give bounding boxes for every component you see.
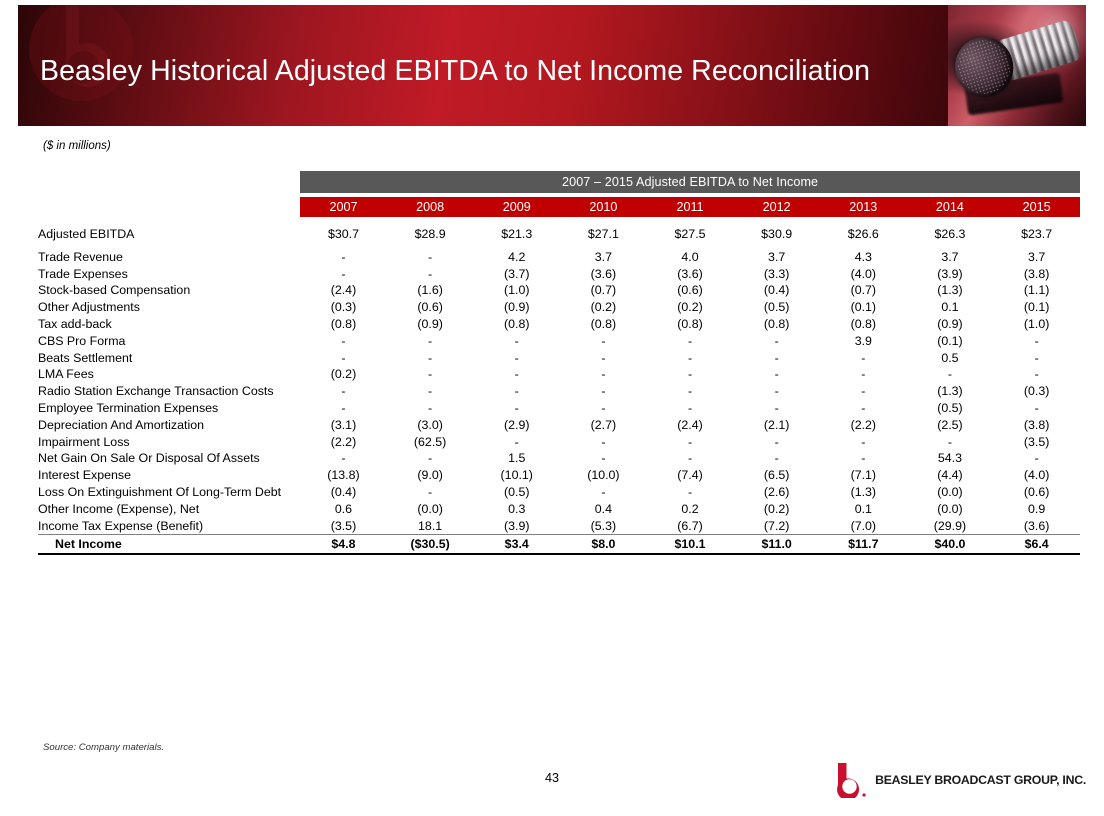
row-label: Impairment Loss bbox=[38, 434, 300, 451]
cell-2015: (3.8) bbox=[993, 417, 1080, 434]
cell-2011: (2.4) bbox=[647, 417, 734, 434]
cell-2014: 0.5 bbox=[907, 350, 994, 367]
table-row: LMA Fees(0.2)-------- bbox=[38, 366, 1080, 383]
cell-2010: - bbox=[560, 383, 647, 400]
cell-2008: (0.0) bbox=[387, 501, 474, 518]
cell-2012: - bbox=[733, 434, 820, 451]
cell-2009: (0.8) bbox=[473, 316, 560, 333]
total-cell-2012: $11.0 bbox=[733, 535, 820, 555]
spacer-cell bbox=[820, 217, 907, 226]
cell-2012: (3.3) bbox=[733, 266, 820, 283]
cell-2013: (2.2) bbox=[820, 417, 907, 434]
spacer-cell bbox=[647, 217, 734, 226]
cell-2013: (0.1) bbox=[820, 299, 907, 316]
cell-2015: (0.6) bbox=[993, 484, 1080, 501]
cell-2010: $27.1 bbox=[560, 226, 647, 243]
column-header-2010: 2010 bbox=[560, 197, 647, 217]
table-banner-row: 2007 – 2015 Adjusted EBITDA to Net Incom… bbox=[38, 171, 1080, 193]
total-cell-2009: $3.4 bbox=[473, 535, 560, 555]
total-cell-2011: $10.1 bbox=[647, 535, 734, 555]
cell-2009: (3.9) bbox=[473, 518, 560, 535]
row-label: Radio Station Exchange Transaction Costs bbox=[38, 383, 300, 400]
page-title: Beasley Historical Adjusted EBITDA to Ne… bbox=[40, 55, 870, 88]
cell-2015: (4.0) bbox=[993, 467, 1080, 484]
cell-2009: $21.3 bbox=[473, 226, 560, 243]
cell-2011: - bbox=[647, 333, 734, 350]
cell-2010: - bbox=[560, 434, 647, 451]
cell-2010: - bbox=[560, 484, 647, 501]
cell-2015: (3.8) bbox=[993, 266, 1080, 283]
cell-2013: $26.6 bbox=[820, 226, 907, 243]
cell-2007: (0.4) bbox=[300, 484, 387, 501]
cell-2014: 3.7 bbox=[907, 249, 994, 266]
row-label: Other Income (Expense), Net bbox=[38, 501, 300, 518]
microphone-photo-background bbox=[948, 5, 1086, 126]
table-spacer-row bbox=[38, 217, 1080, 226]
cell-2007: (0.8) bbox=[300, 316, 387, 333]
microphone-photo bbox=[948, 5, 1086, 126]
table-row: Adjusted EBITDA$30.7$28.9$21.3$27.1$27.5… bbox=[38, 226, 1080, 243]
cell-2011: (6.7) bbox=[647, 518, 734, 535]
cell-2014: (0.0) bbox=[907, 484, 994, 501]
column-header-2012: 2012 bbox=[733, 197, 820, 217]
cell-2007: (3.1) bbox=[300, 417, 387, 434]
row-label: LMA Fees bbox=[38, 366, 300, 383]
cell-2007: - bbox=[300, 383, 387, 400]
row-label: Loss On Extinguishment Of Long-Term Debt bbox=[38, 484, 300, 501]
cell-2007: - bbox=[300, 350, 387, 367]
cell-2012: (0.2) bbox=[733, 501, 820, 518]
cell-2015: 3.7 bbox=[993, 249, 1080, 266]
cell-2012: $30.9 bbox=[733, 226, 820, 243]
cell-2009: (10.1) bbox=[473, 467, 560, 484]
table-row: Radio Station Exchange Transaction Costs… bbox=[38, 383, 1080, 400]
cell-2013: - bbox=[820, 400, 907, 417]
cell-2015: (3.5) bbox=[993, 434, 1080, 451]
table-row: Beats Settlement-------0.5- bbox=[38, 350, 1080, 367]
cell-2015: (1.1) bbox=[993, 282, 1080, 299]
footer-logo-text: BEASLEY BROADCAST GROUP, INC. bbox=[875, 773, 1086, 787]
cell-2010: - bbox=[560, 350, 647, 367]
cell-2007: - bbox=[300, 450, 387, 467]
table-row: Interest Expense(13.8)(9.0)(10.1)(10.0)(… bbox=[38, 467, 1080, 484]
cell-2015: - bbox=[993, 400, 1080, 417]
cell-2013: (0.7) bbox=[820, 282, 907, 299]
column-header-2007: 2007 bbox=[300, 197, 387, 217]
cell-2007: 0.6 bbox=[300, 501, 387, 518]
cell-2008: - bbox=[387, 484, 474, 501]
cell-2010: 0.4 bbox=[560, 501, 647, 518]
table-banner-title: 2007 – 2015 Adjusted EBITDA to Net Incom… bbox=[300, 171, 1080, 193]
cell-2010: (5.3) bbox=[560, 518, 647, 535]
cell-2008: (3.0) bbox=[387, 417, 474, 434]
cell-2011: - bbox=[647, 484, 734, 501]
row-label: Other Adjustments bbox=[38, 299, 300, 316]
cell-2009: (0.5) bbox=[473, 484, 560, 501]
cell-2013: (4.0) bbox=[820, 266, 907, 283]
cell-2014: (4.4) bbox=[907, 467, 994, 484]
row-label: Tax add-back bbox=[38, 316, 300, 333]
cell-2014: 54.3 bbox=[907, 450, 994, 467]
cell-2013: 4.3 bbox=[820, 249, 907, 266]
cell-2012: (6.5) bbox=[733, 467, 820, 484]
spacer-cell bbox=[733, 217, 820, 226]
table-row: Trade Revenue--4.23.74.03.74.33.73.7 bbox=[38, 249, 1080, 266]
cell-2012: - bbox=[733, 383, 820, 400]
table-years-header-row: 200720082009201020112012201320142015 bbox=[38, 197, 1080, 217]
cell-2010: (3.6) bbox=[560, 266, 647, 283]
spacer-cell bbox=[300, 217, 387, 226]
cell-2011: - bbox=[647, 366, 734, 383]
cell-2009: (0.9) bbox=[473, 299, 560, 316]
table-total-row: Net Income$4.8($30.5)$3.4$8.0$10.1$11.0$… bbox=[38, 535, 1080, 555]
cell-2015: (0.3) bbox=[993, 383, 1080, 400]
cell-2007: (2.2) bbox=[300, 434, 387, 451]
cell-2010: (0.8) bbox=[560, 316, 647, 333]
total-cell-2008: ($30.5) bbox=[387, 535, 474, 555]
cell-2014: (0.9) bbox=[907, 316, 994, 333]
cell-2013: - bbox=[820, 434, 907, 451]
cell-2013: (7.1) bbox=[820, 467, 907, 484]
total-cell-2010: $8.0 bbox=[560, 535, 647, 555]
table-row: Stock-based Compensation(2.4)(1.6)(1.0)(… bbox=[38, 282, 1080, 299]
cell-2012: - bbox=[733, 450, 820, 467]
cell-2012: (2.6) bbox=[733, 484, 820, 501]
cell-2008: (62.5) bbox=[387, 434, 474, 451]
cell-2014: (1.3) bbox=[907, 383, 994, 400]
cell-2011: - bbox=[647, 350, 734, 367]
cell-2011: (0.8) bbox=[647, 316, 734, 333]
cell-2014: $26.3 bbox=[907, 226, 994, 243]
cell-2008: - bbox=[387, 450, 474, 467]
cell-2008: $28.9 bbox=[387, 226, 474, 243]
cell-2007: $30.7 bbox=[300, 226, 387, 243]
source-note: Source: Company materials. bbox=[43, 742, 164, 753]
row-label: Trade Expenses bbox=[38, 266, 300, 283]
cell-2007: - bbox=[300, 249, 387, 266]
cell-2011: (0.2) bbox=[647, 299, 734, 316]
cell-2014: - bbox=[907, 366, 994, 383]
cell-2008: - bbox=[387, 366, 474, 383]
cell-2008: - bbox=[387, 400, 474, 417]
column-header-2015: 2015 bbox=[993, 197, 1080, 217]
cell-2014: (3.9) bbox=[907, 266, 994, 283]
cell-2013: 3.9 bbox=[820, 333, 907, 350]
row-label: Employee Termination Expenses bbox=[38, 400, 300, 417]
spacer-cell bbox=[387, 217, 474, 226]
cell-2009: - bbox=[473, 366, 560, 383]
cell-2012: (0.4) bbox=[733, 282, 820, 299]
cell-2007: - bbox=[300, 400, 387, 417]
reconciliation-table: 2007 – 2015 Adjusted EBITDA to Net Incom… bbox=[38, 171, 1080, 555]
cell-2009: (2.9) bbox=[473, 417, 560, 434]
cell-2012: - bbox=[733, 366, 820, 383]
total-cell-2013: $11.7 bbox=[820, 535, 907, 555]
cell-2011: - bbox=[647, 400, 734, 417]
cell-2009: - bbox=[473, 400, 560, 417]
cell-2011: $27.5 bbox=[647, 226, 734, 243]
cell-2007: (2.4) bbox=[300, 282, 387, 299]
footer-logo: BEASLEY BROADCAST GROUP, INC. bbox=[834, 761, 1086, 799]
table-row: Net Gain On Sale Or Disposal Of Assets--… bbox=[38, 450, 1080, 467]
cell-2013: - bbox=[820, 450, 907, 467]
row-label: Adjusted EBITDA bbox=[38, 226, 300, 243]
cell-2007: (0.3) bbox=[300, 299, 387, 316]
total-cell-2014: $40.0 bbox=[907, 535, 994, 555]
cell-2009: - bbox=[473, 383, 560, 400]
cell-2008: 18.1 bbox=[387, 518, 474, 535]
table-row: Loss On Extinguishment Of Long-Term Debt… bbox=[38, 484, 1080, 501]
cell-2010: (0.7) bbox=[560, 282, 647, 299]
table-row: Other Income (Expense), Net0.6(0.0)0.30.… bbox=[38, 501, 1080, 518]
cell-2011: (0.6) bbox=[647, 282, 734, 299]
column-header-2009: 2009 bbox=[473, 197, 560, 217]
cell-2010: - bbox=[560, 333, 647, 350]
cell-2014: (29.9) bbox=[907, 518, 994, 535]
cell-2010: - bbox=[560, 400, 647, 417]
cell-2010: (0.2) bbox=[560, 299, 647, 316]
cell-2014: (2.5) bbox=[907, 417, 994, 434]
cell-2011: - bbox=[647, 383, 734, 400]
cell-2009: 0.3 bbox=[473, 501, 560, 518]
column-header-2008: 2008 bbox=[387, 197, 474, 217]
cell-2010: - bbox=[560, 450, 647, 467]
table-row: Income Tax Expense (Benefit)(3.5)18.1(3.… bbox=[38, 518, 1080, 535]
cell-2013: - bbox=[820, 366, 907, 383]
cell-2010: (10.0) bbox=[560, 467, 647, 484]
cell-2011: (3.6) bbox=[647, 266, 734, 283]
cell-2011: - bbox=[647, 434, 734, 451]
row-label: Income Tax Expense (Benefit) bbox=[38, 518, 300, 535]
header-banner: Beasley Historical Adjusted EBITDA to Ne… bbox=[18, 5, 1086, 126]
cell-2012: (7.2) bbox=[733, 518, 820, 535]
table-row: Trade Expenses--(3.7)(3.6)(3.6)(3.3)(4.0… bbox=[38, 266, 1080, 283]
cell-2015: $23.7 bbox=[993, 226, 1080, 243]
cell-2015: - bbox=[993, 350, 1080, 367]
spacer-cell bbox=[560, 217, 647, 226]
cell-2013: (1.3) bbox=[820, 484, 907, 501]
cell-2009: - bbox=[473, 434, 560, 451]
table-row: Other Adjustments(0.3)(0.6)(0.9)(0.2)(0.… bbox=[38, 299, 1080, 316]
cell-2014: 0.1 bbox=[907, 299, 994, 316]
cell-2013: 0.1 bbox=[820, 501, 907, 518]
cell-2014: (0.5) bbox=[907, 400, 994, 417]
cell-2014: - bbox=[907, 434, 994, 451]
table-row: Depreciation And Amortization(3.1)(3.0)(… bbox=[38, 417, 1080, 434]
cell-2015: - bbox=[993, 333, 1080, 350]
cell-2009: - bbox=[473, 350, 560, 367]
table-row: Tax add-back(0.8)(0.9)(0.8)(0.8)(0.8)(0.… bbox=[38, 316, 1080, 333]
cell-2008: (9.0) bbox=[387, 467, 474, 484]
cell-2014: (1.3) bbox=[907, 282, 994, 299]
cell-2009: - bbox=[473, 333, 560, 350]
row-label: CBS Pro Forma bbox=[38, 333, 300, 350]
cell-2008: (1.6) bbox=[387, 282, 474, 299]
cell-2009: (1.0) bbox=[473, 282, 560, 299]
cell-2008: - bbox=[387, 333, 474, 350]
row-label: Depreciation And Amortization bbox=[38, 417, 300, 434]
cell-2011: 4.0 bbox=[647, 249, 734, 266]
column-header-2014: 2014 bbox=[907, 197, 994, 217]
row-label: Trade Revenue bbox=[38, 249, 300, 266]
cell-2008: - bbox=[387, 350, 474, 367]
cell-2007: (3.5) bbox=[300, 518, 387, 535]
row-label: Beats Settlement bbox=[38, 350, 300, 367]
banner-spacer-cell bbox=[38, 171, 300, 193]
cell-2010: - bbox=[560, 366, 647, 383]
total-cell-2015: $6.4 bbox=[993, 535, 1080, 555]
cell-2009: (3.7) bbox=[473, 266, 560, 283]
total-row-label: Net Income bbox=[38, 535, 300, 555]
cell-2010: 3.7 bbox=[560, 249, 647, 266]
total-cell-2007: $4.8 bbox=[300, 535, 387, 555]
table-row: Employee Termination Expenses-------(0.5… bbox=[38, 400, 1080, 417]
cell-2015: (3.6) bbox=[993, 518, 1080, 535]
cell-2011: 0.2 bbox=[647, 501, 734, 518]
units-note: ($ in millions) bbox=[43, 140, 111, 152]
beasley-b-logo-icon bbox=[834, 762, 868, 798]
cell-2013: - bbox=[820, 383, 907, 400]
cell-2010: (2.7) bbox=[560, 417, 647, 434]
cell-2015: - bbox=[993, 450, 1080, 467]
reconciliation-table-wrapper: 2007 – 2015 Adjusted EBITDA to Net Incom… bbox=[38, 171, 1080, 555]
cell-2008: (0.6) bbox=[387, 299, 474, 316]
spacer-cell bbox=[907, 217, 994, 226]
cell-2007: - bbox=[300, 266, 387, 283]
cell-2013: - bbox=[820, 350, 907, 367]
cell-2009: 4.2 bbox=[473, 249, 560, 266]
cell-2015: - bbox=[993, 366, 1080, 383]
cell-2008: - bbox=[387, 383, 474, 400]
cell-2007: - bbox=[300, 333, 387, 350]
spacer-cell bbox=[38, 217, 300, 226]
cell-2014: (0.0) bbox=[907, 501, 994, 518]
cell-2012: - bbox=[733, 350, 820, 367]
years-header-label-cell bbox=[38, 197, 300, 217]
cell-2008: - bbox=[387, 266, 474, 283]
cell-2008: - bbox=[387, 249, 474, 266]
cell-2011: (7.4) bbox=[647, 467, 734, 484]
row-label: Stock-based Compensation bbox=[38, 282, 300, 299]
row-label: Interest Expense bbox=[38, 467, 300, 484]
row-label: Net Gain On Sale Or Disposal Of Assets bbox=[38, 450, 300, 467]
cell-2012: (0.8) bbox=[733, 316, 820, 333]
column-header-2013: 2013 bbox=[820, 197, 907, 217]
table-row: Impairment Loss(2.2)(62.5)------(3.5) bbox=[38, 434, 1080, 451]
spacer-cell bbox=[993, 217, 1080, 226]
cell-2007: (0.2) bbox=[300, 366, 387, 383]
cell-2015: (0.1) bbox=[993, 299, 1080, 316]
cell-2014: (0.1) bbox=[907, 333, 994, 350]
cell-2012: - bbox=[733, 400, 820, 417]
cell-2011: - bbox=[647, 450, 734, 467]
column-header-2011: 2011 bbox=[647, 197, 734, 217]
cell-2013: (0.8) bbox=[820, 316, 907, 333]
cell-2013: (7.0) bbox=[820, 518, 907, 535]
spacer-cell bbox=[473, 217, 560, 226]
cell-2012: (2.1) bbox=[733, 417, 820, 434]
cell-2012: - bbox=[733, 333, 820, 350]
cell-2007: (13.8) bbox=[300, 467, 387, 484]
cell-2015: 0.9 bbox=[993, 501, 1080, 518]
cell-2012: 3.7 bbox=[733, 249, 820, 266]
cell-2015: (1.0) bbox=[993, 316, 1080, 333]
table-row: CBS Pro Forma------3.9(0.1)- bbox=[38, 333, 1080, 350]
cell-2012: (0.5) bbox=[733, 299, 820, 316]
cell-2009: 1.5 bbox=[473, 450, 560, 467]
cell-2008: (0.9) bbox=[387, 316, 474, 333]
